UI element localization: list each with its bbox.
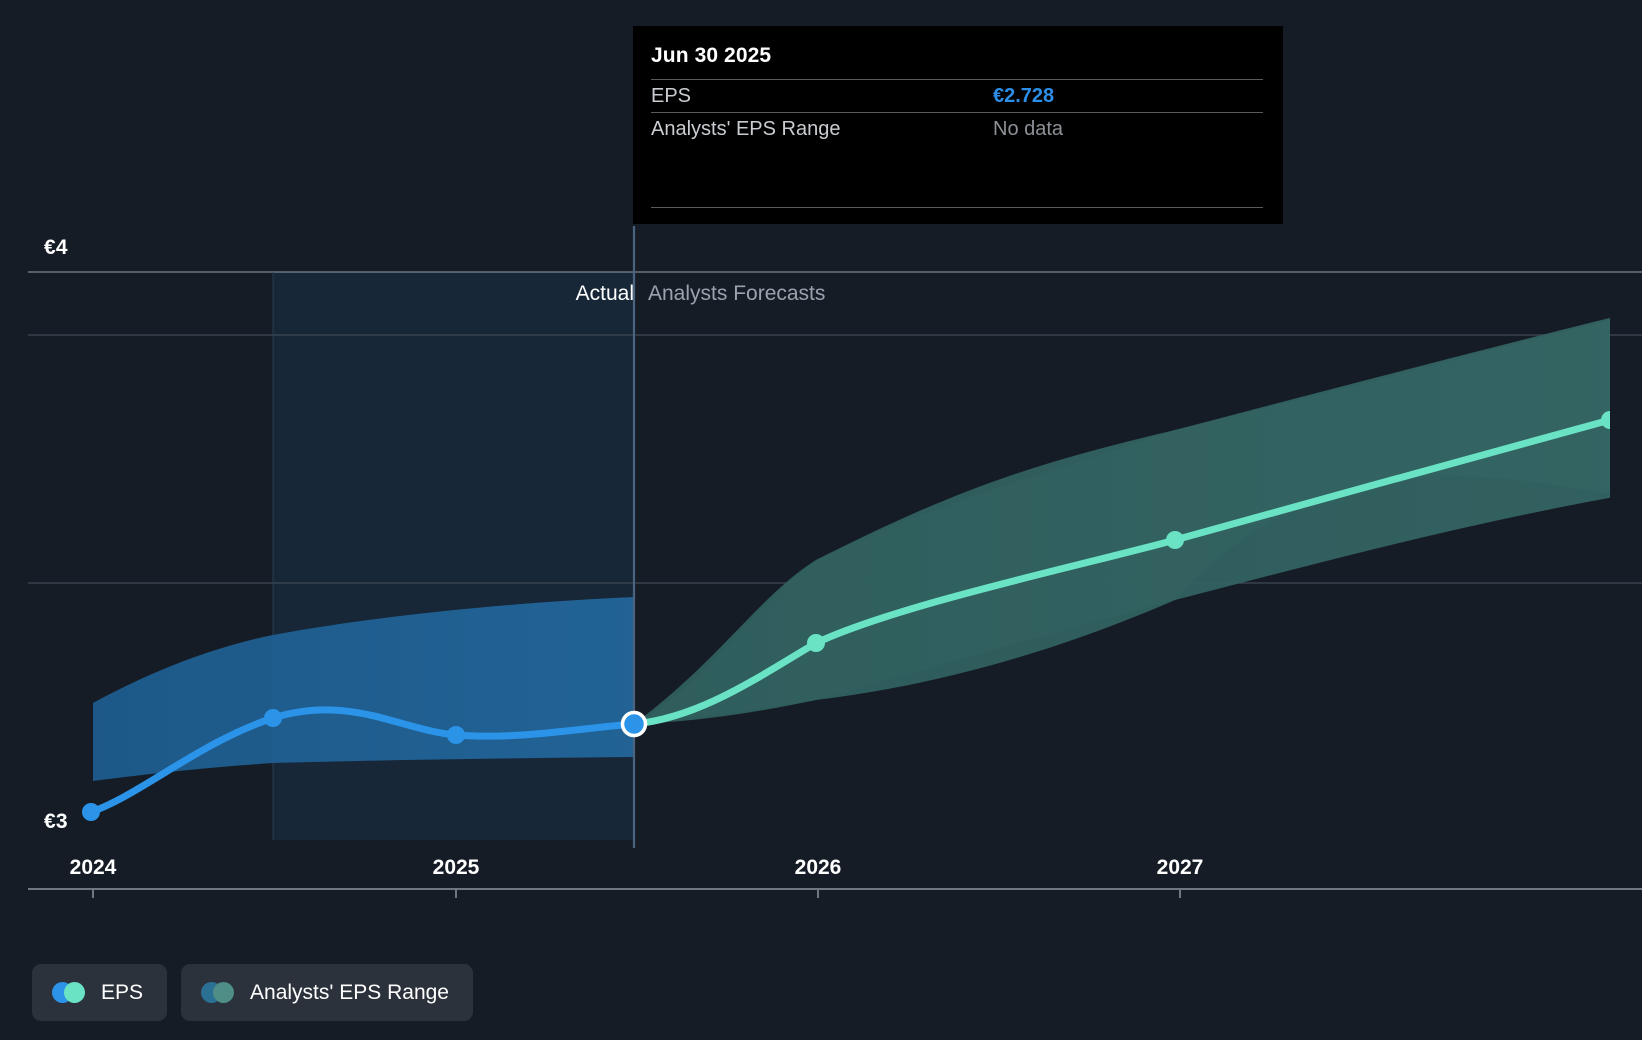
legend-item-eps[interactable]: EPS (32, 964, 167, 1021)
tooltip-spacer (651, 145, 1263, 207)
data-point-marker (264, 709, 282, 727)
data-point-marker (82, 803, 100, 821)
legend-swatch-analysts-eps-range-icon (201, 982, 234, 1003)
tooltip-key-eps: EPS (651, 85, 993, 108)
chart-tooltip: Jun 30 2025 EPS €2.728 Analysts' EPS Ran… (633, 26, 1283, 224)
actual-range-band (93, 597, 634, 781)
x-axis-tick-label-2027: 2027 (1157, 856, 1204, 880)
data-point-marker (807, 634, 825, 652)
tooltip-value-eps-range: No data (993, 118, 1063, 141)
chart-legend: EPS Analysts' EPS Range (32, 964, 473, 1021)
tooltip-value-eps: €2.728 (993, 85, 1054, 108)
data-point-marker (1601, 411, 1619, 429)
x-axis-ticks (93, 889, 1180, 898)
tooltip-key-eps-range: Analysts' EPS Range (651, 118, 993, 141)
legend-label-eps: EPS (101, 981, 143, 1005)
tooltip-row-eps: EPS €2.728 (651, 79, 1263, 112)
y-axis-tick-label-4: €4 (44, 236, 68, 260)
x-axis-tick-label-2025: 2025 (433, 856, 480, 880)
phase-label-actual: Actual (576, 282, 634, 306)
y-axis-tick-label-3: €3 (44, 810, 68, 834)
tooltip-title: Jun 30 2025 (651, 44, 1263, 79)
phase-label-forecast: Analysts Forecasts (648, 282, 825, 306)
legend-swatch-eps-icon (52, 982, 85, 1003)
x-axis-tick-label-2026: 2026 (795, 856, 842, 880)
legend-label-analysts-eps-range: Analysts' EPS Range (250, 981, 449, 1005)
x-axis-tick-label-2024: 2024 (70, 856, 117, 880)
data-point-marker (447, 726, 465, 744)
eps-forecast-chart: €4 €3 2024 2025 2026 2027 Actual Analyst… (0, 0, 1642, 1040)
data-point-marker (1166, 531, 1184, 549)
tooltip-footer-rule (651, 207, 1263, 208)
hovered-point-marker (623, 713, 646, 736)
tooltip-row-eps-range: Analysts' EPS Range No data (651, 112, 1263, 145)
legend-item-analysts-eps-range[interactable]: Analysts' EPS Range (181, 964, 473, 1021)
